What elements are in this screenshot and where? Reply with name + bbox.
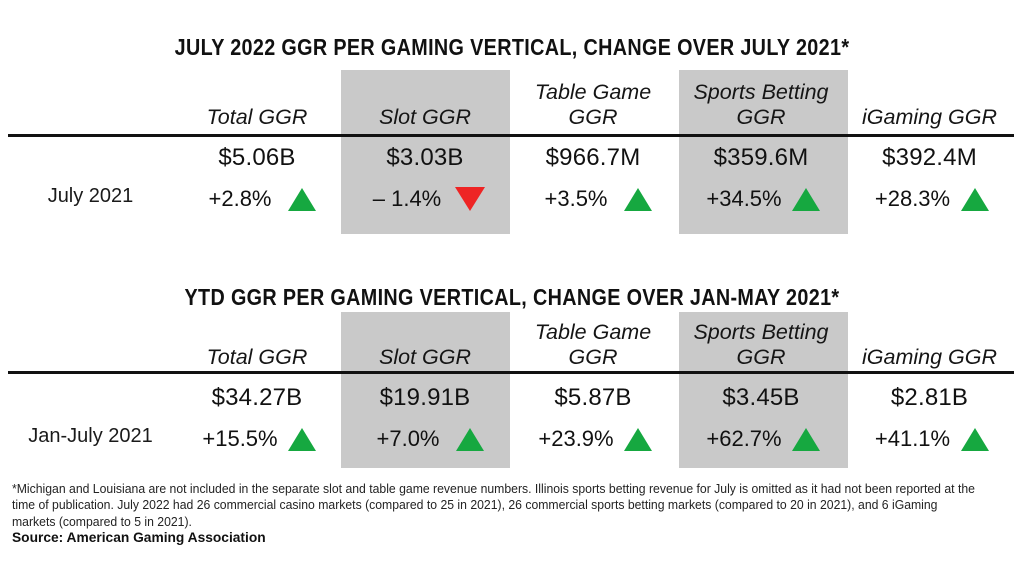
table-row: $5.87B +23.9% xyxy=(509,374,677,470)
amount-value: $5.06B xyxy=(218,144,295,172)
amount-value: $3.45B xyxy=(722,384,799,412)
infographic-page: JULY 2022 GGR PER GAMING VERTICAL, CHANG… xyxy=(0,0,1024,576)
delta-line: +28.3% xyxy=(845,186,1014,212)
table-2-header-sports-betting-ggr: Sports Betting GGR xyxy=(677,308,845,374)
table-2-header-igaming-ggr: iGaming GGR xyxy=(845,308,1014,374)
percent-change: +23.9% xyxy=(534,426,618,452)
header-label: Sports Betting GGR xyxy=(693,320,828,370)
arrow-down-icon xyxy=(455,187,485,211)
amount-value: $5.87B xyxy=(554,384,631,412)
delta-line: +15.5% xyxy=(173,426,341,452)
table-1-header-table-game-ggr: Table Game GGR xyxy=(509,68,677,134)
table-row: $34.27B +15.5% xyxy=(173,374,341,470)
header-label-line1: Table Game xyxy=(535,320,651,344)
amount-value: $3.03B xyxy=(386,144,463,172)
table-1-header-igaming-ggr: iGaming GGR xyxy=(845,68,1014,134)
table-row: $966.7M +3.5% xyxy=(509,134,677,230)
table-2-header-table-game-ggr: Table Game GGR xyxy=(509,308,677,374)
arrow-up-icon xyxy=(624,188,652,211)
arrow-up-icon xyxy=(288,428,316,451)
percent-change: +2.8% xyxy=(198,186,282,212)
table-row: $2.81B +41.1% xyxy=(845,374,1014,470)
header-label: iGaming GGR xyxy=(862,105,997,130)
percent-change: +62.7% xyxy=(702,426,786,452)
percent-change: +3.5% xyxy=(534,186,618,212)
percent-change: – 1.4% xyxy=(365,186,449,212)
header-label: Sports Betting GGR xyxy=(693,80,828,130)
arrow-up-icon xyxy=(456,428,484,451)
delta-line: +34.5% xyxy=(677,186,845,212)
arrow-up-icon xyxy=(792,188,820,211)
header-label-line1: Sports Betting xyxy=(693,320,828,344)
table-row: $359.6M +34.5% xyxy=(677,134,845,230)
table-2-title: YTD GGR PER GAMING VERTICAL, CHANGE OVER… xyxy=(72,284,953,311)
header-label-line1: Sports Betting xyxy=(693,80,828,104)
table-2-corner xyxy=(8,308,173,374)
delta-line: +23.9% xyxy=(509,426,677,452)
delta-line: +62.7% xyxy=(677,426,845,452)
arrow-up-icon xyxy=(624,428,652,451)
amount-value: $359.6M xyxy=(714,144,809,172)
percent-change: +34.5% xyxy=(702,186,786,212)
header-label: Table Game GGR xyxy=(535,320,651,370)
amount-value: $966.7M xyxy=(546,144,641,172)
source-attribution: Source: American Gaming Association xyxy=(12,530,266,546)
amount-value: $34.27B xyxy=(212,384,303,412)
percent-change: +41.1% xyxy=(871,426,955,452)
table-1-header-sports-betting-ggr: Sports Betting GGR xyxy=(677,68,845,134)
header-label-line1: Table Game xyxy=(535,80,651,104)
percent-change: +15.5% xyxy=(198,426,282,452)
arrow-up-icon xyxy=(961,428,989,451)
delta-line: +41.1% xyxy=(845,426,1014,452)
table-2-row-label: Jan-July 2021 xyxy=(8,374,173,470)
table-row: $3.45B +62.7% xyxy=(677,374,845,470)
footnote-text: *Michigan and Louisiana are not included… xyxy=(12,481,977,530)
arrow-up-icon xyxy=(792,428,820,451)
table-row: $392.4M +28.3% xyxy=(845,134,1014,230)
header-label-line2: GGR xyxy=(737,105,786,129)
amount-value: $392.4M xyxy=(882,144,977,172)
delta-line: +3.5% xyxy=(509,186,677,212)
table-row: $3.03B – 1.4% xyxy=(341,134,509,230)
table-1: Total GGR Slot GGR Table Game GGR Sports… xyxy=(8,68,1014,230)
amount-value: $2.81B xyxy=(891,384,968,412)
delta-line: +2.8% xyxy=(173,186,341,212)
table-1-header-slot-ggr: Slot GGR xyxy=(341,68,509,134)
header-label-line2: GGR xyxy=(737,345,786,369)
delta-line: – 1.4% xyxy=(341,186,509,212)
header-label-line2: GGR xyxy=(569,345,618,369)
table-1-row-label: July 2021 xyxy=(8,134,173,230)
header-label: Slot GGR xyxy=(379,105,471,130)
percent-change: +7.0% xyxy=(366,426,450,452)
arrow-up-icon xyxy=(288,188,316,211)
amount-value: $19.91B xyxy=(380,384,471,412)
delta-line: +7.0% xyxy=(341,426,509,452)
table-2-header-slot-ggr: Slot GGR xyxy=(341,308,509,374)
header-label-line2: GGR xyxy=(569,105,618,129)
table-2: Total GGR Slot GGR Table Game GGR Sports… xyxy=(8,308,1014,470)
table-row: $19.91B +7.0% xyxy=(341,374,509,470)
header-label: Slot GGR xyxy=(379,345,471,370)
header-label: iGaming GGR xyxy=(862,345,997,370)
table-row: $5.06B +2.8% xyxy=(173,134,341,230)
header-label: Total GGR xyxy=(207,105,308,130)
header-label: Total GGR xyxy=(207,345,308,370)
arrow-up-icon xyxy=(961,188,989,211)
table-1-header-total-ggr: Total GGR xyxy=(173,68,341,134)
table-2-header-total-ggr: Total GGR xyxy=(173,308,341,374)
table-1-corner xyxy=(8,68,173,134)
percent-change: +28.3% xyxy=(871,186,955,212)
header-label: Table Game GGR xyxy=(535,80,651,130)
table-1-title: JULY 2022 GGR PER GAMING VERTICAL, CHANG… xyxy=(72,34,953,61)
